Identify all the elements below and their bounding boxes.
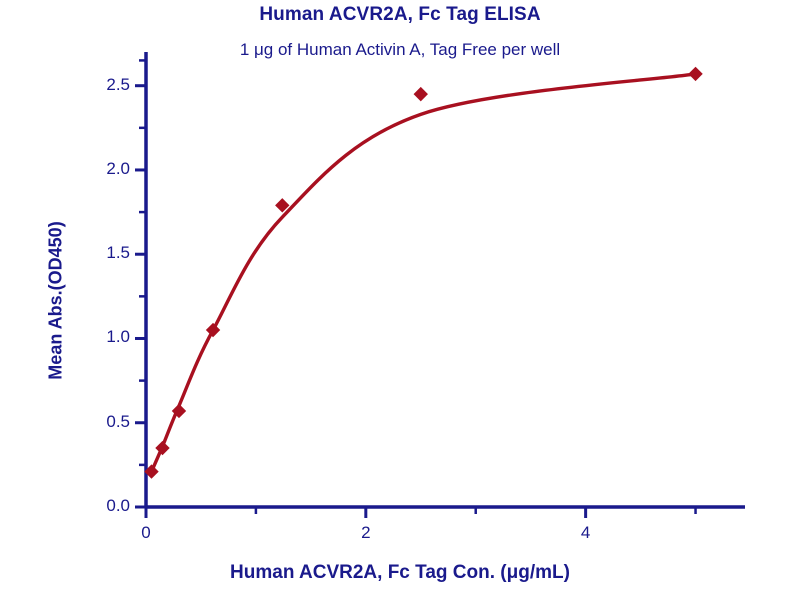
y-tick-label: 2.5 (76, 75, 130, 95)
axes (135, 52, 745, 518)
data-point-marker (688, 67, 702, 81)
y-tick-label: 1.5 (76, 243, 130, 263)
data-point-marker (155, 441, 169, 455)
x-tick-label: 2 (346, 523, 386, 543)
data-point-marker (414, 87, 428, 101)
y-tick-label: 0.5 (76, 412, 130, 432)
fit-curve-path (152, 74, 696, 472)
data-markers (144, 67, 702, 479)
y-tick-label: 1.0 (76, 327, 130, 347)
x-tick-label: 4 (566, 523, 606, 543)
y-tick-label: 0.0 (76, 496, 130, 516)
chart-figure: Human ACVR2A, Fc Tag ELISA 1 μg of Human… (0, 0, 800, 600)
fit-curve (152, 74, 696, 472)
data-point-marker (206, 323, 220, 337)
x-tick-label: 0 (126, 523, 166, 543)
y-tick-label: 2.0 (76, 159, 130, 179)
